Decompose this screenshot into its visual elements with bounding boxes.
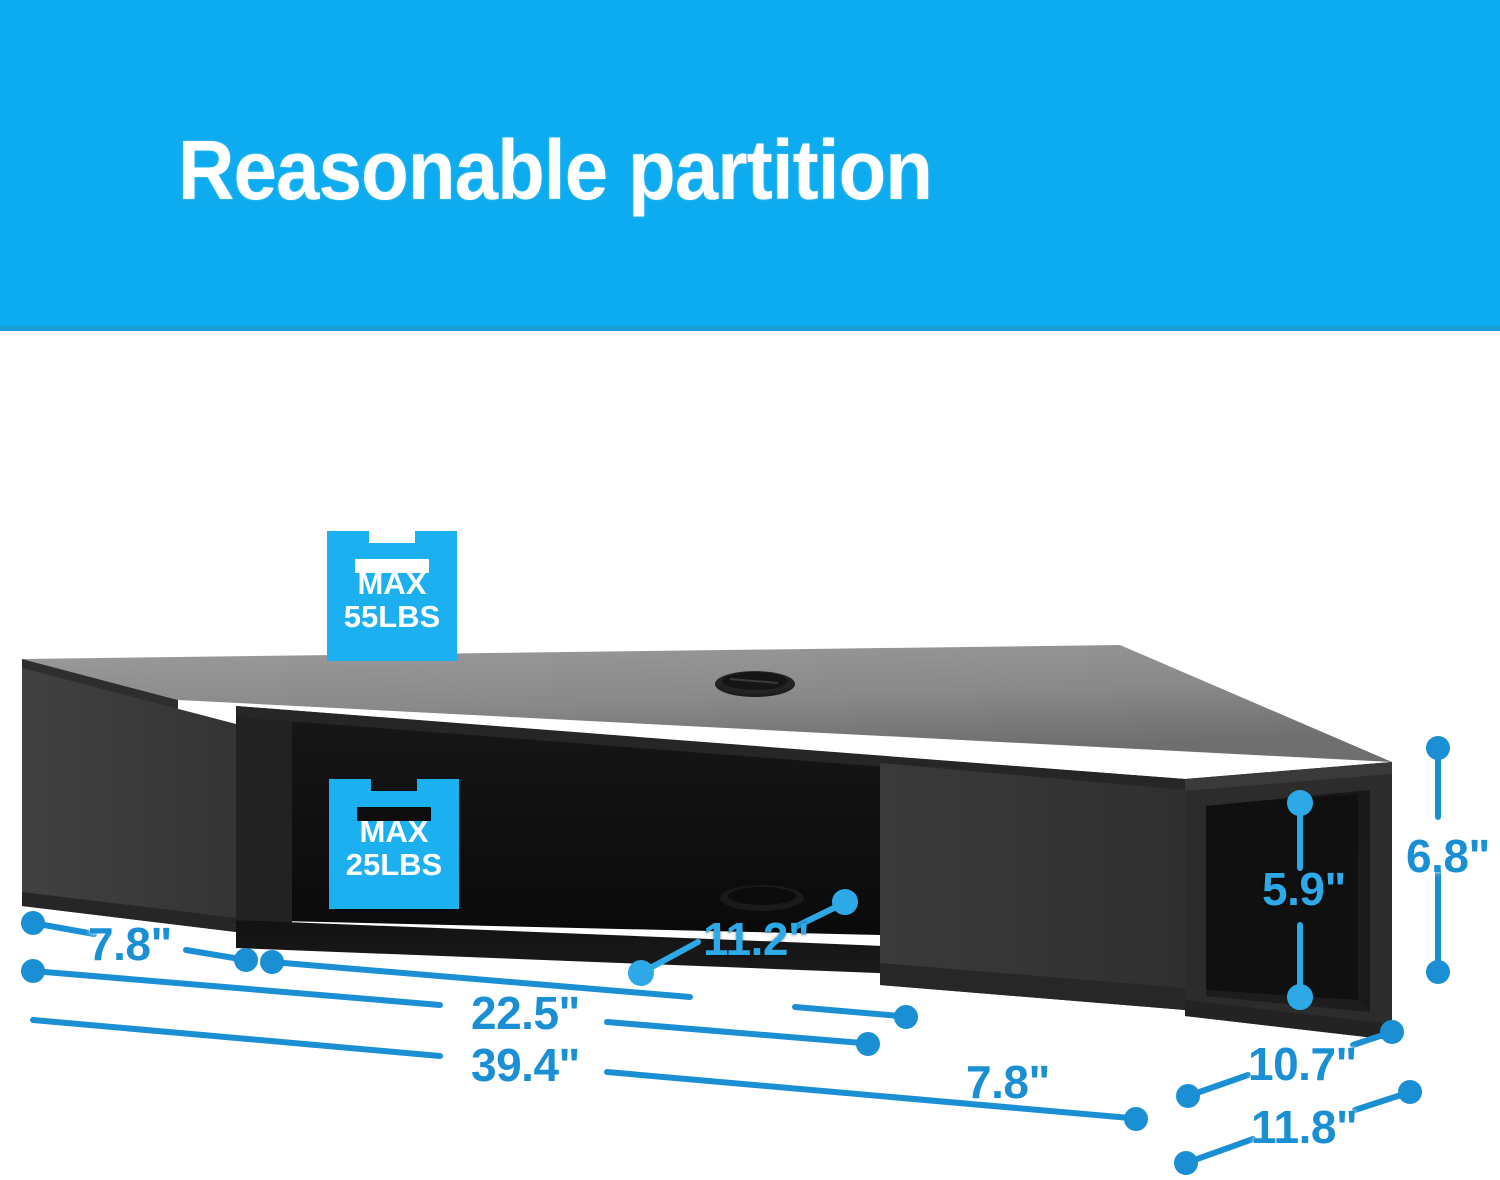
max-load-tag-top: MAX 55LBS [327, 521, 457, 648]
dimension-label-39-4: 39.4" [471, 1042, 580, 1088]
max-value-top: 55LBS [327, 600, 457, 633]
dimension-label-6-8: 6.8" [1406, 833, 1490, 879]
dimension-label-7-8-left: 7.8" [88, 921, 172, 967]
max-label-top: MAX [327, 567, 457, 600]
dimension-label-7-8-right: 7.8" [966, 1059, 1050, 1105]
dimension-label-10-7: 10.7" [1248, 1041, 1357, 1087]
dimension-overlay [0, 0, 1500, 1180]
max-label-cavity: MAX [329, 815, 459, 848]
max-load-tag-cavity: MAX 25LBS [329, 769, 459, 896]
dimension-label-22-5: 22.5" [471, 990, 580, 1036]
max-load-tag-cavity-text: MAX 25LBS [329, 815, 459, 882]
dimension-label-11-2: 11.2" [703, 916, 809, 962]
max-value-cavity: 25LBS [329, 848, 459, 881]
dim-line-7-8-right [263, 953, 915, 1026]
dimension-label-5-9: 5.9" [1262, 866, 1346, 912]
infographic-canvas: Reasonable partition [0, 0, 1500, 1180]
dimension-label-11-8: 11.8" [1251, 1104, 1357, 1150]
max-load-tag-top-text: MAX 55LBS [327, 567, 457, 634]
